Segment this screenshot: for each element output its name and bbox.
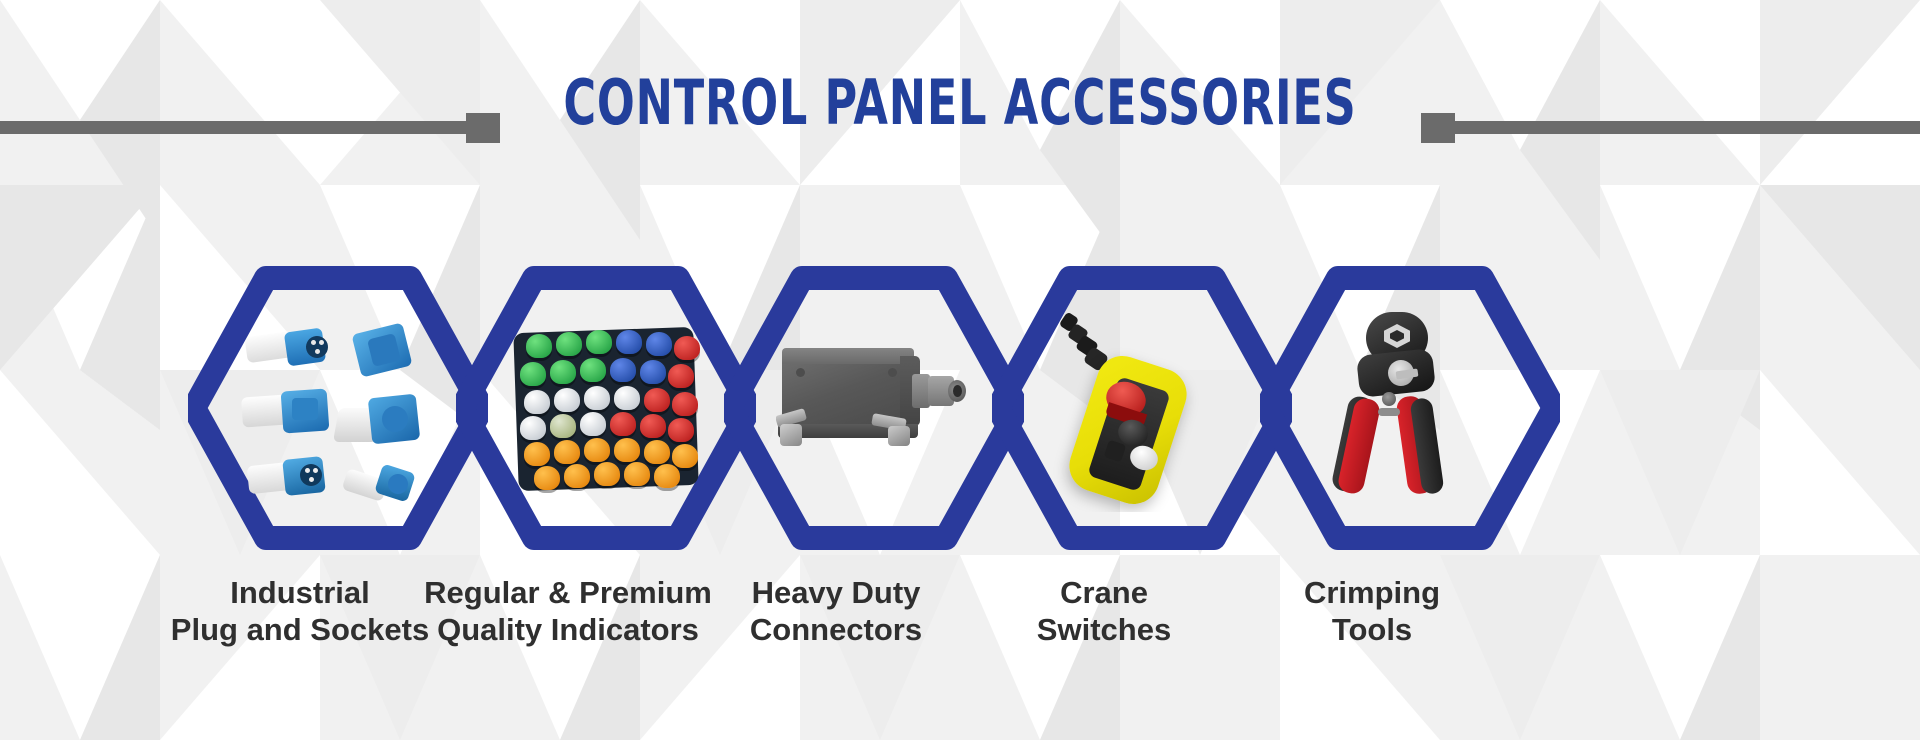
caption-line-2: Tools — [1202, 612, 1542, 649]
category-item-crane-switches[interactable] — [992, 258, 1292, 558]
category-item-heavy-duty-connectors[interactable] — [724, 258, 1024, 558]
crane-pendant-switch-icon — [1044, 304, 1240, 512]
industrial-plug-socket-icon — [240, 304, 436, 512]
caption-line-1: Crimping — [1202, 575, 1542, 612]
category-item-crimping-tools[interactable] — [1260, 258, 1560, 558]
category-item-industrial-plug-and-sockets[interactable] — [188, 258, 488, 558]
crimping-tool-icon — [1312, 304, 1508, 512]
indicator-lamp-cluster-icon — [508, 304, 704, 512]
heavy-duty-connector-icon — [776, 304, 972, 512]
caption-crimping-tools: Crimping Tools — [1202, 575, 1542, 648]
category-hexagon-row — [188, 258, 1748, 558]
category-item-regular-premium-quality-indicators[interactable] — [456, 258, 756, 558]
control-panel-accessories-banner: CONTROL PANEL ACCESSORIES — [0, 0, 1920, 740]
page-title: CONTROL PANEL ACCESSORIES — [192, 72, 1728, 134]
